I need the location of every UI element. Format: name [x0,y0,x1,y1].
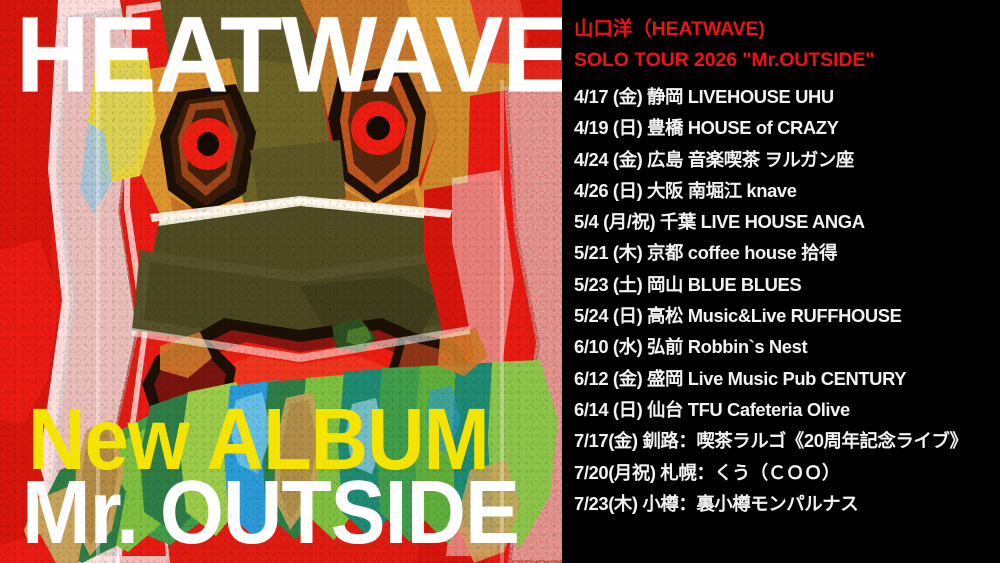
tour-date-row: 4/19 (日) 豊橋 HOUSE of CRAZY [574,112,996,143]
tour-date-row: 5/4 (月/祝) 千葉 LIVE HOUSE ANGA [574,206,996,237]
tour-date-row: 5/23 (土) 岡山 BLUE BLUES [574,269,996,300]
album-artwork: HEATWAVE New ALBUM Mr. OUTSIDE [0,0,562,563]
tour-date-row: 6/14 (日) 仙台 TFU Cafeteria Olive [574,394,996,425]
tour-poster: HEATWAVE New ALBUM Mr. OUTSIDE 山口洋（HEATW… [0,0,1000,563]
tour-date-row: 4/26 (日) 大阪 南堀江 knave [574,175,996,206]
tour-date-list: 4/17 (金) 静岡 LIVEHOUSE UHU4/19 (日) 豊橋 HOU… [574,81,996,519]
tour-date-row: 4/17 (金) 静岡 LIVEHOUSE UHU [574,81,996,112]
tour-info-panel: 山口洋（HEATWAVE) SOLO TOUR 2026 "Mr.OUTSIDE… [562,0,1000,563]
tour-headline: SOLO TOUR 2026 "Mr.OUTSIDE" [574,45,996,76]
tour-date-row: 5/21 (木) 京都 coffee house 拾得 [574,237,996,268]
tour-date-row: 5/24 (日) 高松 Music&Live RUFFHOUSE [574,300,996,331]
tour-date-row: 7/23(木) 小樽：裏小樽モンパルナス [574,488,996,519]
tour-date-row: 6/12 (金) 盛岡 Live Music Pub CENTURY [574,363,996,394]
tour-date-row: 4/24 (金) 広島 音楽喫茶 ヲルガン座 [574,144,996,175]
tour-date-row: 6/10 (水) 弘前 Robbin`s Nest [574,331,996,362]
artist-headline: 山口洋（HEATWAVE) [574,14,996,45]
tour-date-row: 7/17(金) 釧路：喫茶ラルゴ《20周年記念ライブ》 [574,425,996,456]
collage-artwork-illustration [0,0,562,563]
tour-date-row: 7/20(月祝) 札幌：くう（ＣＯＯ） [574,457,996,488]
